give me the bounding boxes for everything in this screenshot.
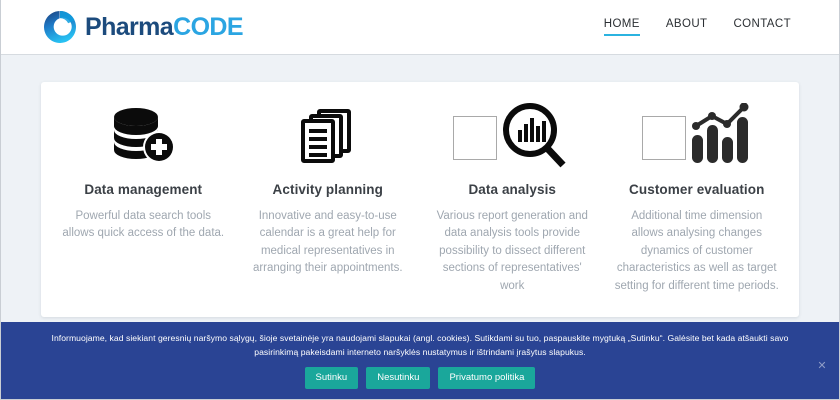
features-card: Data management Powerful data search too… [41, 82, 799, 317]
logo-text: PharmaCODE [85, 15, 243, 40]
cookie-banner-buttons: Sutinku Nesutinku Privatumo politika [35, 367, 805, 389]
page-root: PharmaCODE HOME ABOUT CONTACT [0, 0, 840, 400]
feature-customer-evaluation: Customer evaluation Additional time dime… [605, 102, 790, 295]
feature-desc: Additional time dimension allows analysi… [615, 208, 780, 295]
site-header: PharmaCODE HOME ABOUT CONTACT [1, 0, 839, 55]
cookie-banner-text: Informuojame, kad siekiant geresnių narš… [35, 331, 805, 359]
feature-title: Data management [61, 182, 226, 197]
feature-activity-planning: Activity planning Innovative and easy-to… [236, 102, 421, 278]
cookie-decline-button[interactable]: Nesutinku [366, 367, 430, 389]
feature-data-analysis: Data analysis Various report generation … [420, 102, 605, 295]
broken-image-placeholder [453, 116, 497, 160]
broken-image-placeholder [642, 116, 686, 160]
feature-icon-row [61, 102, 226, 174]
feature-icon-row [246, 102, 411, 174]
barchart-trendline-icon [688, 103, 752, 174]
feature-title: Data analysis [430, 182, 595, 197]
feature-desc: Innovative and easy-to-use calendar is a… [246, 208, 411, 278]
logo[interactable]: PharmaCODE [41, 8, 243, 46]
feature-icon-row [615, 102, 780, 174]
ring-logo-icon [41, 8, 79, 46]
feature-title: Activity planning [246, 182, 411, 197]
close-icon[interactable]: ✕ [815, 359, 829, 373]
database-add-icon [108, 105, 178, 172]
feature-data-management: Data management Powerful data search too… [51, 102, 236, 243]
feature-desc: Powerful data search tools allows quick … [61, 208, 226, 243]
magnifier-barchart-icon [499, 101, 571, 176]
nav-item-home[interactable]: HOME [604, 18, 640, 36]
nav-item-contact[interactable]: CONTACT [733, 18, 791, 36]
documents-stack-icon [295, 105, 361, 172]
hero-section: Data management Powerful data search too… [1, 55, 839, 317]
nav-item-about[interactable]: ABOUT [666, 18, 708, 36]
cookie-accept-button[interactable]: Sutinku [305, 367, 359, 389]
logo-text-primary: Pharma [85, 13, 173, 41]
cookie-privacy-policy-button[interactable]: Privatumo politika [438, 367, 535, 389]
logo-text-secondary: CODE [173, 13, 243, 41]
feature-title: Customer evaluation [615, 182, 780, 197]
main-nav: HOME ABOUT CONTACT [604, 18, 791, 36]
feature-icon-row [430, 102, 595, 174]
feature-desc: Various report generation and data analy… [430, 208, 595, 295]
cookie-banner: Informuojame, kad siekiant geresnių narš… [1, 322, 839, 399]
